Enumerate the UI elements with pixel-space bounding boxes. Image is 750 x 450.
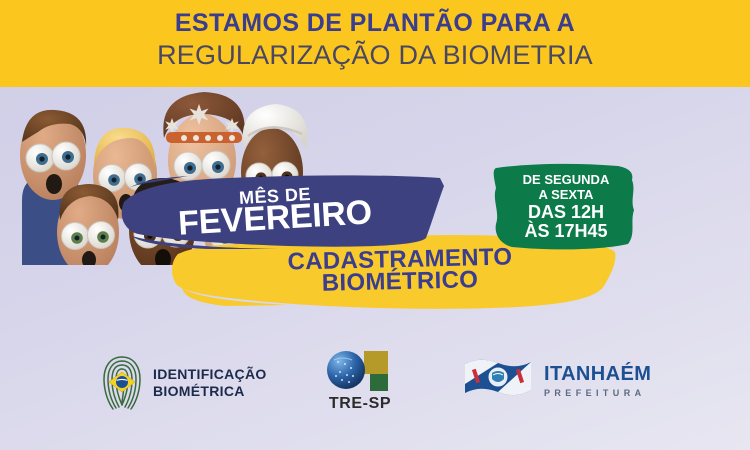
hours-line3: DAS 12H [496, 202, 636, 223]
itanhaem-flag-icon [462, 354, 534, 406]
hours-line1: DE SEGUNDA [496, 172, 636, 187]
character-child-brown [57, 184, 119, 265]
itanhaem-text: ITANHAÉM PREFEITURA [544, 363, 651, 398]
biometria-text: IDENTIFICAÇÃO BIOMÉTRICA [153, 366, 267, 399]
footer-logos: IDENTIFICAÇÃO BIOMÉTRICA [0, 340, 750, 450]
logo-tre-sp: TRE-SP [318, 348, 402, 413]
biometria-line2: BIOMÉTRICA [153, 383, 267, 400]
header-title-line1: ESTAMOS DE PLANTÃO PARA A [0, 9, 750, 38]
header-title-line2: REGULARIZAÇÃO DA BIOMETRIA [0, 40, 750, 71]
hours-line2: A SEXTA [496, 187, 636, 202]
fingerprint-icon [100, 354, 144, 412]
itanhaem-subtitle: PREFEITURA [544, 388, 651, 398]
poster-canvas: ESTAMOS DE PLANTÃO PARA A REGULARIZAÇÃO … [0, 0, 750, 450]
biometria-line1: IDENTIFICAÇÃO [153, 366, 267, 383]
tresp-emblem-icon [318, 348, 402, 394]
hours-line4: ÀS 17H45 [496, 221, 636, 242]
logo-identificacao-biometrica: IDENTIFICAÇÃO BIOMÉTRICA [100, 354, 267, 412]
header-band: ESTAMOS DE PLANTÃO PARA A REGULARIZAÇÃO … [0, 0, 750, 87]
itanhaem-name: ITANHAÉM [544, 363, 651, 386]
logo-itanhaem-prefeitura: ITANHAÉM PREFEITURA [462, 354, 651, 406]
tresp-label: TRE-SP [329, 395, 391, 413]
